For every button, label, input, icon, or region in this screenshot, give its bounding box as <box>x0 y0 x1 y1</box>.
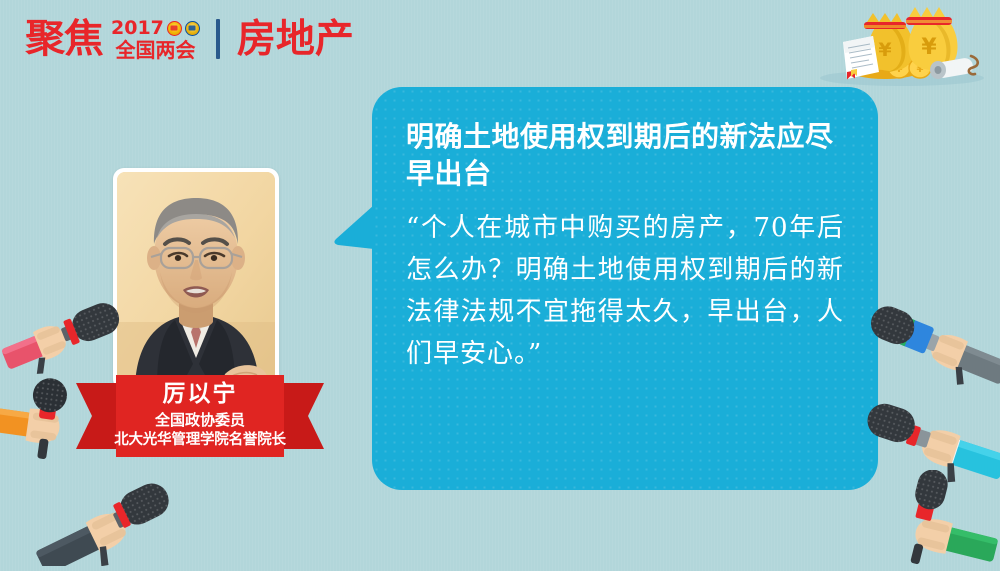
mic-left-middle <box>0 378 121 470</box>
ribbon-text-block: 厉以宁 全国政协委员 北大光华管理学院名誉院长 <box>116 375 284 457</box>
mic-right-top <box>866 300 1000 392</box>
portrait-frame <box>113 168 279 390</box>
bubble-title: 明确土地使用权到期后的新法应尽早出台 <box>406 119 844 193</box>
logo-year-row: 2017 <box>111 19 200 38</box>
mic-left-bottom <box>34 470 184 566</box>
header-logo: 聚焦 2017 全国两会 房地产 <box>26 9 354 69</box>
money-bags-illustration: ¥ ¥ ¥ ¥ <box>807 0 992 93</box>
logo-meeting-block: 2017 全国两会 <box>111 19 200 60</box>
speaker-name: 厉以宁 <box>163 382 238 408</box>
logo-year-text: 2017 <box>111 19 164 38</box>
speaker-portrait <box>117 172 275 386</box>
svg-text:¥: ¥ <box>878 39 891 61</box>
logo-meeting-text: 全国两会 <box>115 40 195 60</box>
speech-bubble-tail <box>334 205 374 267</box>
bubble-content: 明确土地使用权到期后的新法应尽早出台 “个人在城市中购买的房产，70年后怎么办？… <box>372 87 878 375</box>
speech-bubble: 明确土地使用权到期后的新法应尽早出台 “个人在城市中购买的房产，70年后怎么办？… <box>372 87 878 490</box>
mic-left-top <box>0 292 129 378</box>
mic-right-bottom <box>863 470 998 570</box>
speaker-title-line2: 北大光华管理学院名誉院长 <box>114 431 286 450</box>
poster-canvas: 聚焦 2017 全国两会 房地产 ¥ ¥ <box>0 0 1000 571</box>
logo-focus-text: 聚焦 <box>25 20 103 59</box>
bubble-quote-text: “个人在城市中购买的房产，70年后怎么办？明确土地使用权到期后的新法律法规不宜拖… <box>406 207 844 375</box>
national-emblem-icon <box>167 21 182 36</box>
logo-divider <box>216 19 220 59</box>
cppcc-emblem-icon <box>185 21 200 36</box>
document-with-seal <box>843 36 879 80</box>
svg-text:¥: ¥ <box>921 35 937 60</box>
logo-topic-text: 房地产 <box>237 20 354 59</box>
speaker-title-line1: 全国政协委员 <box>155 411 245 431</box>
